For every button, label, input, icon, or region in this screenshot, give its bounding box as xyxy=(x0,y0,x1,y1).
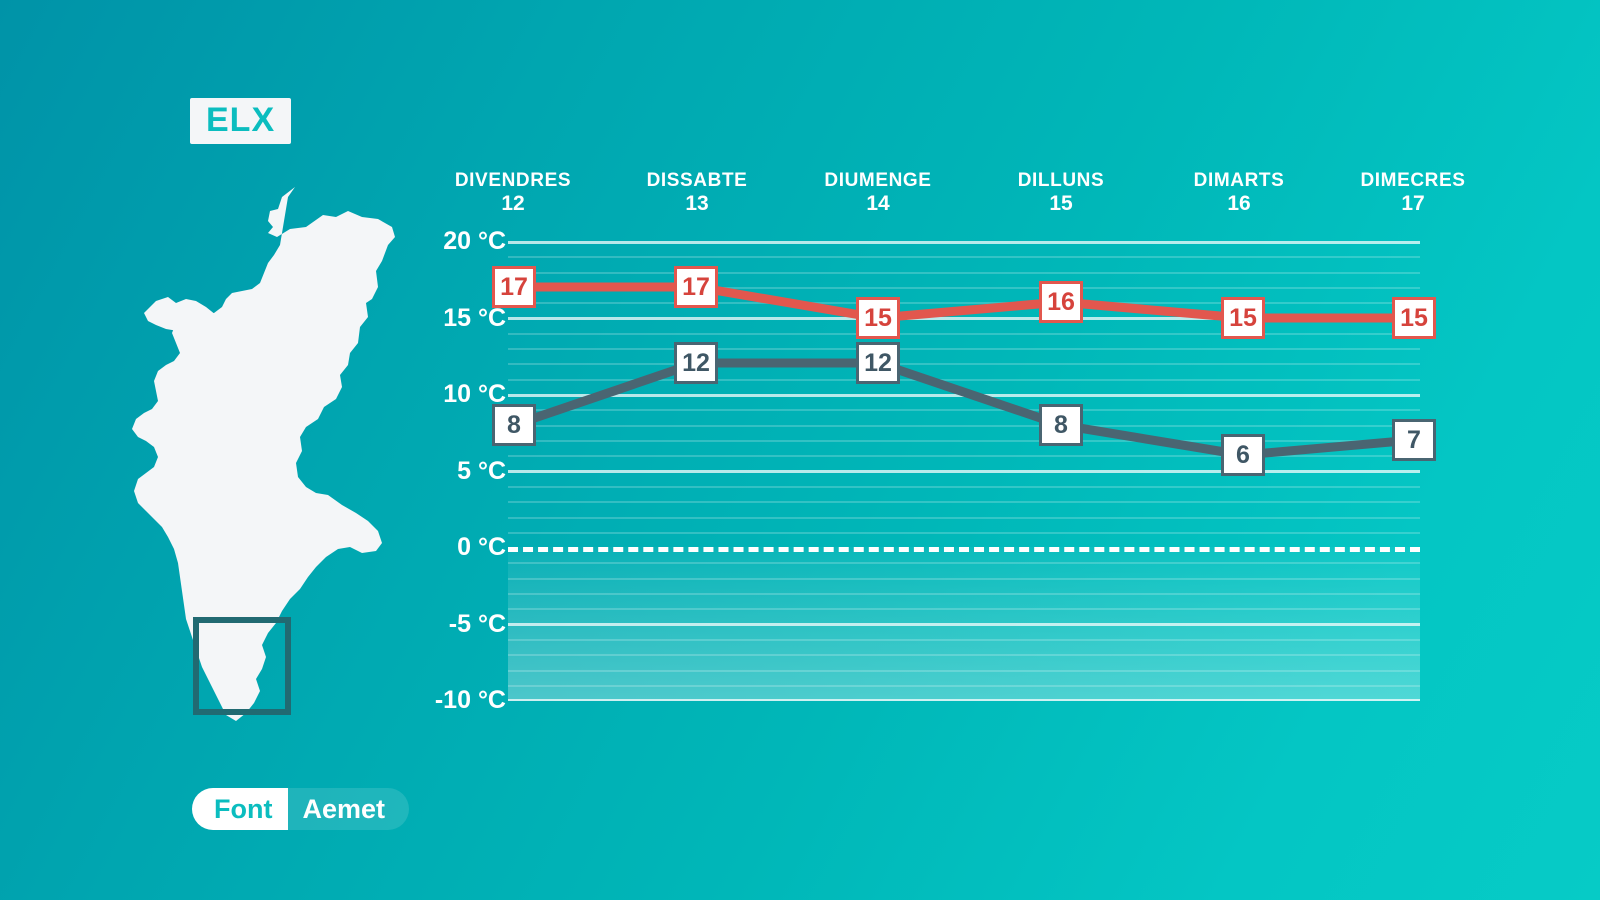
day-header-1: DISSABTE 13 xyxy=(612,170,782,216)
source-badge: Font Aemet xyxy=(192,788,409,830)
max-temp-value-3: 16 xyxy=(1047,290,1075,315)
y-tick-label-20: 20 °C xyxy=(420,229,506,254)
max-temp-marker-1: 17 xyxy=(674,266,718,308)
min-temp-value-5: 7 xyxy=(1407,428,1421,453)
day-number-1: 13 xyxy=(612,192,782,216)
series-lines-svg xyxy=(508,241,1420,701)
min-temp-marker-1: 12 xyxy=(674,342,718,384)
day-header-4: DIMARTS 16 xyxy=(1154,170,1324,216)
location-badge-label: ELX xyxy=(206,103,275,137)
min-temp-value-0: 8 xyxy=(507,413,521,438)
max-temp-value-5: 15 xyxy=(1400,306,1428,331)
y-tick-label-minus5: -5 °C xyxy=(420,612,506,637)
min-temp-value-2: 12 xyxy=(864,351,892,376)
day-header-row: DIVENDRES 12 DISSABTE 13 DIUMENGE 14 DIL… xyxy=(420,170,1440,225)
day-header-2: DIUMENGE 14 xyxy=(793,170,963,216)
min-temp-marker-0: 8 xyxy=(492,404,536,446)
day-header-3: DILLUNS 15 xyxy=(976,170,1146,216)
max-temp-value-0: 17 xyxy=(500,275,528,300)
max-temp-value-2: 15 xyxy=(864,306,892,331)
min-temp-marker-2: 12 xyxy=(856,342,900,384)
region-map-svg xyxy=(110,175,410,740)
max-temp-marker-2: 15 xyxy=(856,297,900,339)
max-temp-marker-3: 16 xyxy=(1039,281,1083,323)
day-name-3: DILLUNS xyxy=(976,170,1146,192)
max-temp-marker-5: 15 xyxy=(1392,297,1436,339)
plot-area: 17 17 15 16 15 15 8 12 12 8 6 xyxy=(508,241,1420,701)
day-name-2: DIUMENGE xyxy=(793,170,963,192)
y-tick-label-minus10: -10 °C xyxy=(420,688,506,713)
y-tick-label-0: 0 °C xyxy=(420,535,506,560)
min-temp-marker-3: 8 xyxy=(1039,404,1083,446)
y-axis: 20 °C 15 °C 10 °C 5 °C 0 °C -5 °C -10 °C xyxy=(420,241,506,701)
day-name-4: DIMARTS xyxy=(1154,170,1324,192)
day-name-5: DIMECRES xyxy=(1328,170,1498,192)
min-temp-marker-5: 7 xyxy=(1392,419,1436,461)
day-number-3: 15 xyxy=(976,192,1146,216)
map-island-shape xyxy=(144,297,222,335)
min-temperature-line xyxy=(514,363,1414,455)
region-map xyxy=(110,175,410,740)
max-temp-value-4: 15 xyxy=(1229,306,1257,331)
location-badge: ELX xyxy=(190,98,291,144)
day-number-4: 16 xyxy=(1154,192,1324,216)
day-header-5: DIMECRES 17 xyxy=(1328,170,1498,216)
min-temp-value-4: 6 xyxy=(1236,443,1250,468)
y-tick-label-15: 15 °C xyxy=(420,306,506,331)
max-temp-marker-4: 15 xyxy=(1221,297,1265,339)
day-number-5: 17 xyxy=(1328,192,1498,216)
max-temp-value-1: 17 xyxy=(682,275,710,300)
day-name-1: DISSABTE xyxy=(612,170,782,192)
y-tick-label-5: 5 °C xyxy=(420,459,506,484)
temperature-forecast-chart: DIVENDRES 12 DISSABTE 13 DIUMENGE 14 DIL… xyxy=(420,170,1440,715)
min-temp-marker-4: 6 xyxy=(1221,434,1265,476)
day-number-0: 12 xyxy=(428,192,598,216)
source-label: Font xyxy=(192,788,288,830)
day-number-2: 14 xyxy=(793,192,963,216)
max-temp-marker-0: 17 xyxy=(492,266,536,308)
max-temperature-line xyxy=(514,287,1414,318)
day-header-0: DIVENDRES 12 xyxy=(428,170,598,216)
day-name-0: DIVENDRES xyxy=(428,170,598,192)
map-land-shape xyxy=(132,187,395,721)
min-temp-value-1: 12 xyxy=(682,351,710,376)
source-value: Aemet xyxy=(288,788,409,830)
min-temp-value-3: 8 xyxy=(1054,413,1068,438)
